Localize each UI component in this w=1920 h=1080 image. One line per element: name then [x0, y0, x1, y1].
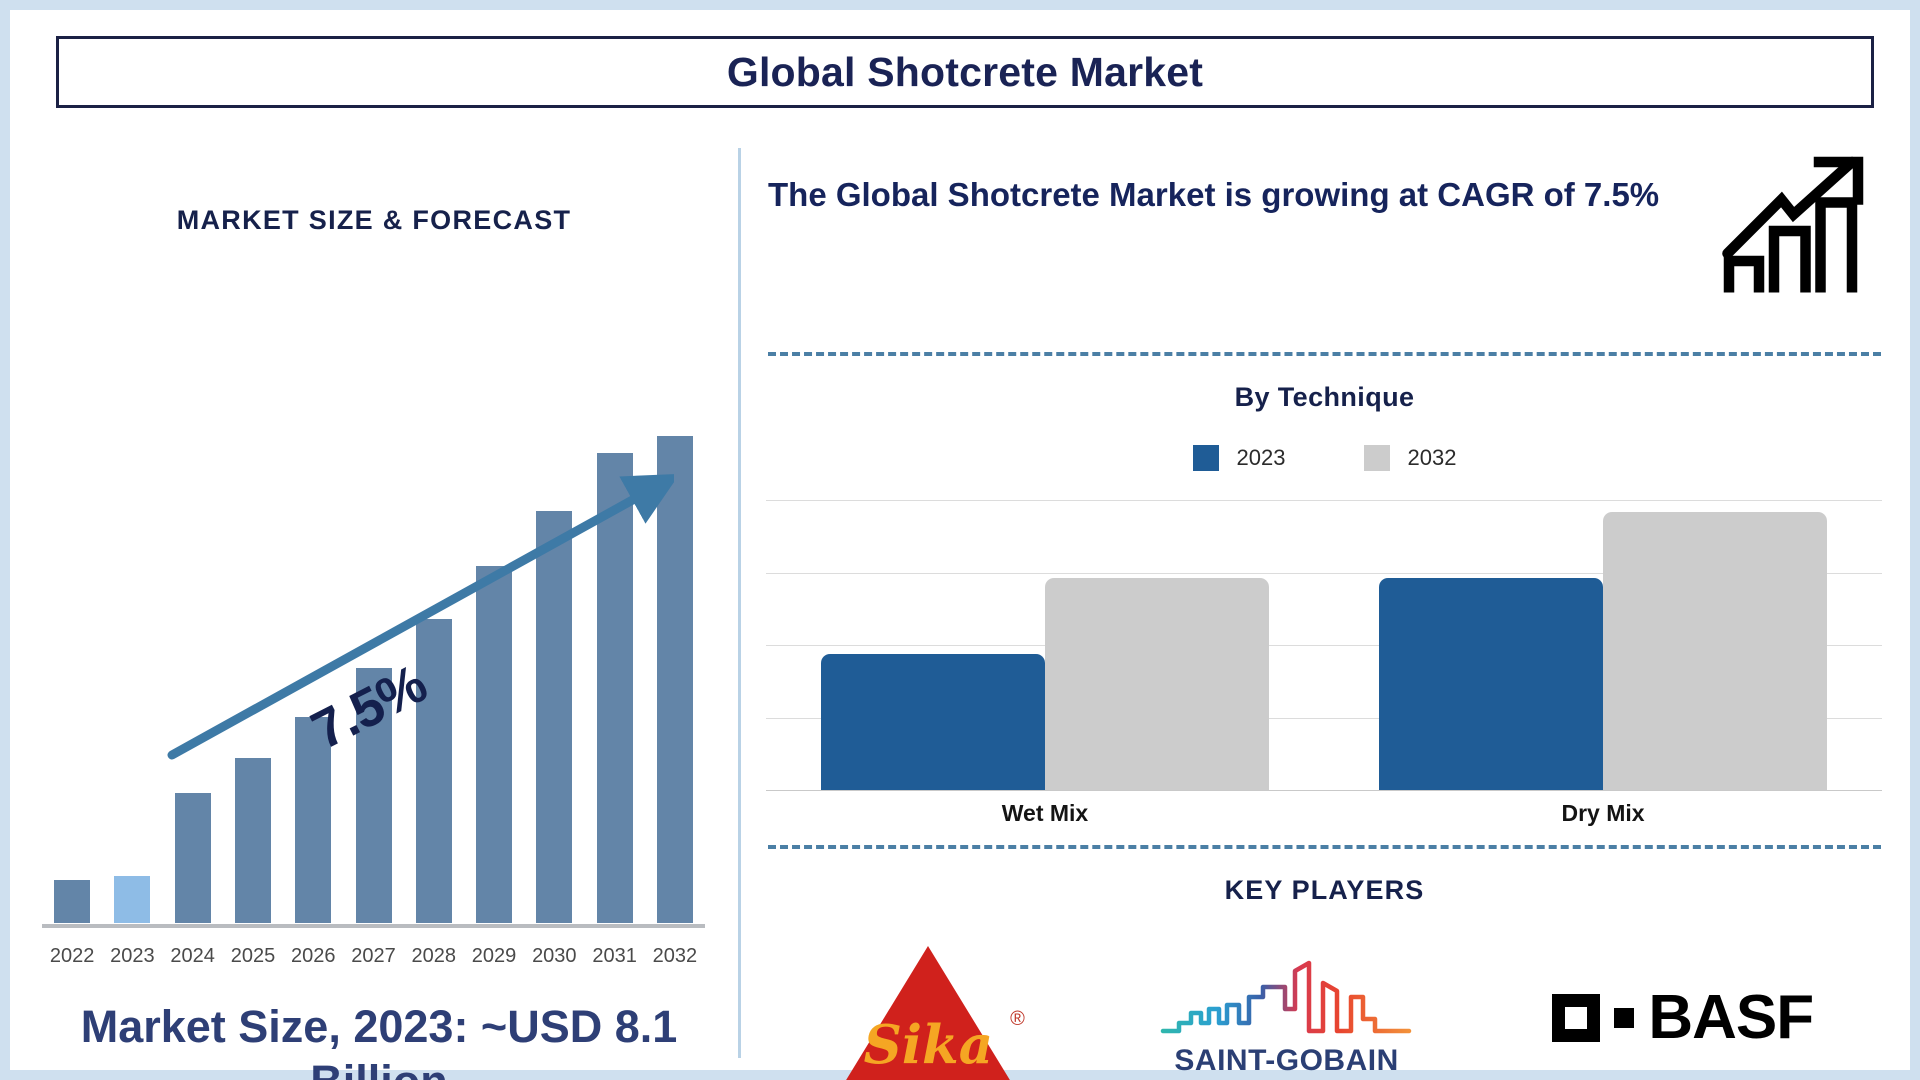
- legend-label: 2023: [1237, 445, 1286, 471]
- legend-item: 2023: [1193, 445, 1286, 471]
- technique-bar: [1045, 578, 1269, 790]
- technique-bar: [1603, 512, 1827, 790]
- vertical-divider: [738, 148, 741, 1058]
- year-label: 2022: [42, 945, 102, 968]
- logo-basf: BASF: [1552, 925, 1813, 1080]
- basf-square-icon: [1552, 994, 1600, 1042]
- legend-label: 2032: [1408, 445, 1457, 471]
- segment-title: By Technique: [768, 382, 1881, 413]
- year-label: 2023: [102, 945, 162, 968]
- year-label: 2024: [163, 945, 223, 968]
- divider-bottom: [768, 845, 1881, 849]
- market-size-panel: MARKET SIZE & FORECAST 20222023202420252…: [24, 120, 724, 1070]
- forecast-bar: [476, 566, 512, 923]
- category-label: Wet Mix: [766, 800, 1324, 827]
- logo-sika: Sika ®: [836, 925, 1021, 1080]
- legend-swatch-icon: [1364, 445, 1390, 471]
- legend-item: 2032: [1364, 445, 1457, 471]
- forecast-bars: [42, 323, 705, 923]
- category-axis-labels: Wet MixDry Mix: [766, 800, 1882, 827]
- basf-dot-icon: [1614, 1008, 1634, 1028]
- forecast-bar: [597, 453, 633, 923]
- key-players-logos: Sika ®: [768, 925, 1881, 1080]
- forecast-bar: [114, 876, 150, 923]
- year-label: 2032: [645, 945, 705, 968]
- year-label: 2028: [404, 945, 464, 968]
- saint-gobain-skyline-icon: [1157, 957, 1417, 1037]
- right-panel: The Global Shotcrete Market is growing a…: [758, 120, 1908, 1070]
- market-size-forecast-chart: 2022202320242025202620272028202920302031…: [34, 305, 714, 950]
- forecast-bar: [175, 793, 211, 924]
- basf-wordmark: BASF: [1648, 982, 1813, 1053]
- chart-legend: 20232032: [768, 445, 1881, 471]
- logo-saint-gobain: SAINT-GOBAIN: [1157, 925, 1417, 1080]
- forecast-bar: [54, 880, 90, 924]
- forecast-bar: [416, 619, 452, 924]
- saint-gobain-wordmark: SAINT-GOBAIN: [1157, 1044, 1417, 1078]
- x-axis-line: [42, 924, 705, 928]
- divider-top: [768, 352, 1881, 356]
- year-label: 2027: [344, 945, 404, 968]
- forecast-bar: [235, 758, 271, 923]
- sika-wordmark: Sika: [836, 938, 1021, 1080]
- year-label: 2030: [524, 945, 584, 968]
- forecast-bar: [657, 436, 693, 923]
- registered-icon: ®: [1010, 1008, 1025, 1031]
- infographic-page: Global Shotcrete Market MARKET SIZE & FO…: [0, 0, 1920, 1080]
- growth-chart-icon: [1720, 150, 1870, 300]
- title-box: Global Shotcrete Market: [56, 36, 1874, 108]
- technique-bar: [1379, 578, 1603, 790]
- cagr-headline: The Global Shotcrete Market is growing a…: [768, 172, 1688, 219]
- key-players-title: KEY PLAYERS: [768, 875, 1881, 906]
- category-label: Dry Mix: [1324, 800, 1882, 827]
- market-size-heading: MARKET SIZE & FORECAST: [24, 205, 724, 236]
- legend-swatch-icon: [1193, 445, 1219, 471]
- bar-group: [1324, 500, 1882, 790]
- forecast-bar: [536, 511, 572, 923]
- year-label: 2026: [283, 945, 343, 968]
- year-label: 2025: [223, 945, 283, 968]
- year-label: 2029: [464, 945, 524, 968]
- year-axis-labels: 2022202320242025202620272028202920302031…: [42, 932, 705, 968]
- market-size-value: Market Size, 2023: ~USD 8.1 Billion: [34, 1000, 724, 1080]
- by-technique-chart: [766, 500, 1882, 790]
- technique-bar: [821, 654, 1045, 790]
- bar-group: [766, 500, 1324, 790]
- page-title: Global Shotcrete Market: [727, 49, 1203, 96]
- year-label: 2031: [585, 945, 645, 968]
